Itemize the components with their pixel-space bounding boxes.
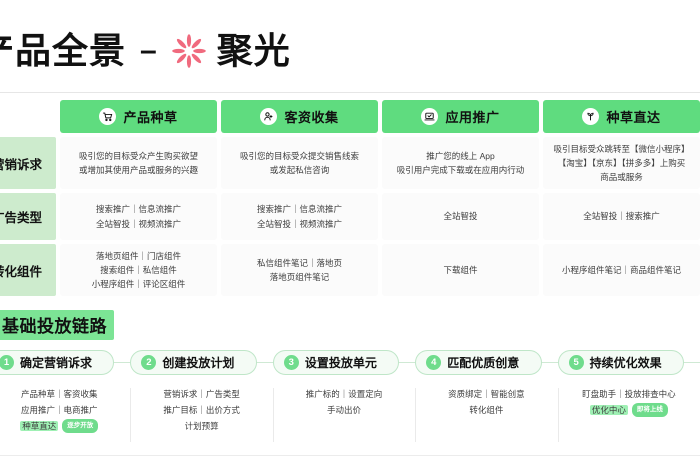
matrix-cell-0-0-text: 吸引您的目标受众产生购买欲望或增加其使用产品或服务的兴趣 — [79, 149, 198, 177]
flow-detail-highlight-text: 种草直达 — [20, 421, 58, 431]
flow-step-3-label: 匹配优质创意 — [447, 354, 519, 371]
flow-step-2-number: 3 — [284, 355, 299, 370]
matrix-column-header-1[interactable]: 客资收集 — [221, 100, 378, 133]
flow-step-0-label: 确定营销诉求 — [20, 354, 92, 371]
flow-step-3-detail: 资质绑定｜智能创意转化组件 — [415, 386, 557, 448]
matrix-cell-2-3-text: 小程序组件笔记｜商品组件笔记 — [562, 263, 681, 277]
sparkle-icon — [171, 33, 207, 69]
flow-connector-3 — [542, 362, 558, 363]
matrix-cell-1-0-text: 搜索推广｜信息流推广全站智投｜视频流推广 — [96, 202, 181, 230]
matrix-cell-2-0-text: 落地页组件｜门店组件搜索组件｜私信组件小程序组件｜评论区组件 — [92, 249, 186, 291]
flow-step-4[interactable]: 5 持续优化效果 — [558, 350, 700, 375]
matrix-header-row: 产品种草 客资收集 应用推广 — [0, 100, 700, 133]
matrix-column-header-0[interactable]: 产品种草 — [60, 100, 217, 133]
matrix-cell-0-2-text: 推广您的线上 App吸引用户完成下载或在应用内行动 — [397, 149, 525, 177]
matrix-corner-cell — [0, 100, 56, 133]
matrix-cell-0-3: 吸引目标受众跳转至【微信小程序】【淘宝】【京东】【拼多多】上购买商品或服务 — [543, 137, 700, 189]
flow-detail-line: 推广目标｜出价方式 — [163, 402, 240, 418]
flow-connector-0 — [114, 362, 130, 363]
flow-detail-line: 资质绑定｜智能创意 — [448, 386, 525, 402]
flow-step-2-label: 设置投放单元 — [305, 354, 377, 371]
sprout-icon — [582, 108, 599, 125]
matrix-cell-1-3: 全站智投｜搜索推广 — [543, 193, 700, 240]
matrix-row-1-label: 广告类型 — [0, 193, 56, 240]
user-lead-icon — [260, 108, 277, 125]
matrix-column-header-2[interactable]: 应用推广 — [382, 100, 539, 133]
flow-step-1[interactable]: 2 创建投放计划 — [130, 350, 272, 375]
flow-detail-badge: 即将上线 — [632, 403, 668, 417]
cart-icon — [99, 108, 116, 125]
matrix-cell-1-1-text: 搜索推广｜信息流推广全站智投｜视频流推广 — [257, 202, 342, 230]
matrix-column-header-2-label: 应用推广 — [445, 107, 499, 126]
flow-detail-highlight-text: 优化中心 — [590, 405, 628, 415]
matrix-cell-1-2-text: 全站智投 — [443, 209, 477, 223]
title-dash: – — [140, 36, 157, 66]
brand-name: 聚光 — [217, 33, 291, 69]
product-overview-page: 产品全景 – 聚光 — [0, 0, 700, 470]
title-divider — [0, 92, 700, 93]
matrix-cell-1-0: 搜索推广｜信息流推广全站智投｜视频流推广 — [60, 193, 217, 240]
matrix-cell-2-0: 落地页组件｜门店组件搜索组件｜私信组件小程序组件｜评论区组件 — [60, 244, 217, 296]
flow-step-0[interactable]: 1 确定营销诉求 — [0, 350, 130, 375]
flow-step-2-detail: 推广标的｜设置定向手动出价 — [273, 386, 415, 448]
matrix-column-header-1-label: 客资收集 — [284, 107, 338, 126]
flow-step-4-number: 5 — [569, 355, 584, 370]
flow-detail-line: 产品种草｜客资收集 — [21, 386, 98, 402]
matrix-cell-0-3-text: 吸引目标受众跳转至【微信小程序】【淘宝】【京东】【拼多多】上购买商品或服务 — [553, 142, 689, 184]
flow-step-3-number: 4 — [426, 355, 441, 370]
matrix-cell-2-3: 小程序组件笔记｜商品组件笔记 — [543, 244, 700, 296]
flow-step-4-pill[interactable]: 5 持续优化效果 — [558, 350, 684, 375]
flow-step-1-detail: 营销诉求｜广告类型推广目标｜出价方式计划预算 — [130, 386, 272, 448]
matrix-cell-0-1: 吸引您的目标受众提交销售线索或发起私信咨询 — [221, 137, 378, 189]
page-title: 产品全景 – 聚光 — [0, 33, 291, 69]
flow-step-1-pill[interactable]: 2 创建投放计划 — [130, 350, 256, 375]
matrix-cell-1-1: 搜索推广｜信息流推广全站智投｜视频流推广 — [221, 193, 378, 240]
flow-detail-line-highlight: 种草直达逐步开放 — [20, 418, 98, 434]
matrix-cell-2-1: 私信组件笔记｜落地页落地页组件笔记 — [221, 244, 378, 296]
flow-detail-line: 营销诉求｜广告类型 — [163, 386, 240, 402]
flow-detail-line-highlight: 优化中心即将上线 — [590, 402, 668, 418]
matrix-cell-0-2: 推广您的线上 App吸引用户完成下载或在应用内行动 — [382, 137, 539, 189]
flow-step-0-detail: 产品种草｜客资收集应用推广｜电商推广种草直达逐步开放 — [0, 386, 130, 448]
flow-chain: 1 确定营销诉求 2 创建投放计划 3 设置投放单元 — [0, 350, 700, 448]
flow-step-2[interactable]: 3 设置投放单元 — [273, 350, 415, 375]
bottom-divider — [0, 455, 700, 456]
matrix-cell-1-3-text: 全站智投｜搜索推广 — [583, 209, 660, 223]
matrix-cell-2-2-text: 下载组件 — [443, 263, 477, 277]
flow-step-3[interactable]: 4 匹配优质创意 — [415, 350, 557, 375]
flow-detail-line: 计划预算 — [185, 418, 219, 434]
flow-step-3-pill[interactable]: 4 匹配优质创意 — [415, 350, 541, 375]
flow-connector-2 — [399, 362, 415, 363]
flow-section-heading: 基础投放链路 — [0, 310, 114, 340]
flow-step-4-detail: 盯盘助手｜投放排查中心优化中心即将上线 — [558, 386, 700, 448]
matrix-cell-2-2: 下载组件 — [382, 244, 539, 296]
matrix-row-0-label: 营销诉求 — [0, 137, 56, 189]
matrix-cell-0-0: 吸引您的目标受众产生购买欲望或增加其使用产品或服务的兴趣 — [60, 137, 217, 189]
flow-step-1-number: 2 — [141, 355, 156, 370]
matrix-column-header-3[interactable]: 种草直达 — [543, 100, 700, 133]
matrix-column-header-3-label: 种草直达 — [606, 107, 660, 126]
matrix-row-1: 广告类型 搜索推广｜信息流推广全站智投｜视频流推广 搜索推广｜信息流推广全站智投… — [0, 193, 700, 240]
flow-step-0-pill[interactable]: 1 确定营销诉求 — [0, 350, 114, 375]
flow-detail-line: 盯盘助手｜投放排查中心 — [582, 386, 676, 402]
flow-detail-line: 手动出价 — [327, 402, 361, 418]
flow-step-details: 产品种草｜客资收集应用推广｜电商推广种草直达逐步开放 营销诉求｜广告类型推广目标… — [0, 386, 700, 448]
matrix-cell-2-1-text: 私信组件笔记｜落地页落地页组件笔记 — [257, 256, 342, 284]
flow-detail-line: 推广标的｜设置定向 — [306, 386, 383, 402]
flow-step-0-number: 1 — [0, 355, 14, 370]
matrix-row-2: 转化组件 落地页组件｜门店组件搜索组件｜私信组件小程序组件｜评论区组件 私信组件… — [0, 244, 700, 296]
flow-step-1-label: 创建投放计划 — [162, 354, 234, 371]
page-title-text: 产品全景 — [0, 33, 126, 69]
flow-detail-line: 转化组件 — [469, 402, 503, 418]
flow-step-2-pill[interactable]: 3 设置投放单元 — [273, 350, 399, 375]
matrix-cell-0-1-text: 吸引您的目标受众提交销售线索或发起私信咨询 — [240, 149, 359, 177]
matrix-row-0: 营销诉求 吸引您的目标受众产生购买欲望或增加其使用产品或服务的兴趣 吸引您的目标… — [0, 137, 700, 189]
laptop-check-icon — [421, 108, 438, 125]
flow-section-heading-text: 基础投放链路 — [2, 317, 107, 336]
flow-step-4-label: 持续优化效果 — [590, 354, 662, 371]
flow-connector-4 — [684, 362, 700, 363]
flow-detail-badge: 逐步开放 — [62, 419, 98, 433]
matrix-row-2-label: 转化组件 — [0, 244, 56, 296]
flow-step-pills: 1 确定营销诉求 2 创建投放计划 3 设置投放单元 — [0, 350, 700, 375]
matrix-column-header-0-label: 产品种草 — [123, 107, 177, 126]
product-matrix: 产品种草 客资收集 应用推广 — [0, 100, 700, 300]
flow-detail-line: 应用推广｜电商推广 — [21, 402, 98, 418]
matrix-cell-1-2: 全站智投 — [382, 193, 539, 240]
flow-connector-1 — [257, 362, 273, 363]
